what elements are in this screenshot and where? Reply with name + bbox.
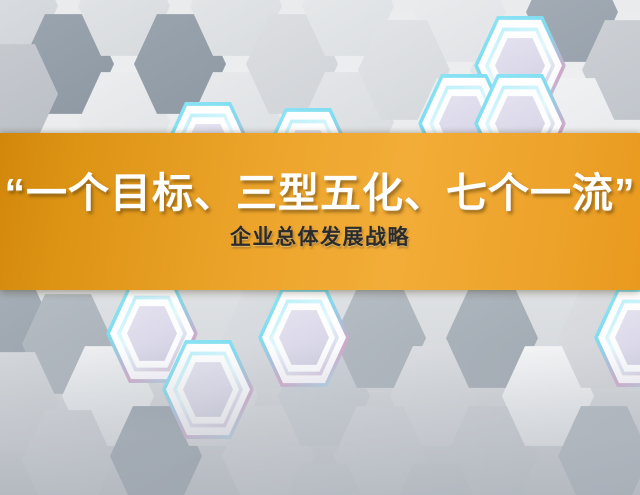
slide-subtitle: 企业总体发展战略	[230, 221, 410, 251]
slide-title: “一个目标、三型五化、七个一流”	[5, 172, 636, 215]
glow-hexagon	[262, 290, 346, 385]
glow-hexagon	[598, 290, 640, 385]
glow-hexagon	[166, 342, 250, 437]
title-banner: “一个目标、三型五化、七个一流” 企业总体发展战略	[0, 133, 640, 290]
title-slide: “一个目标、三型五化、七个一流” 企业总体发展战略	[0, 0, 640, 495]
